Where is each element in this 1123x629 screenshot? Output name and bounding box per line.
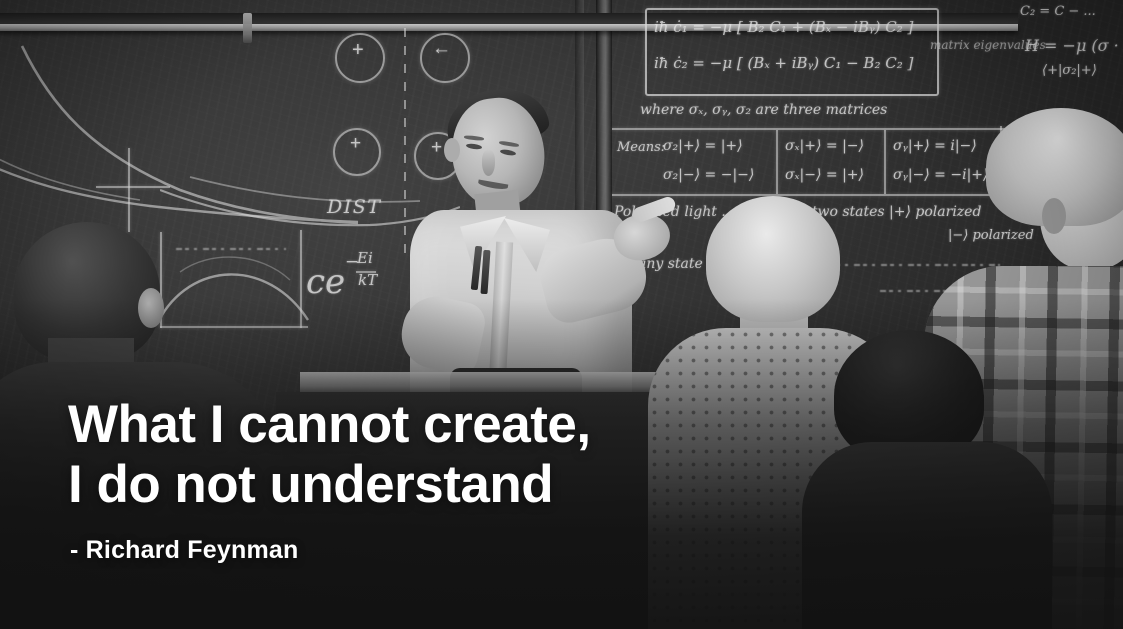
quote-text: What I cannot create, I do not understan… bbox=[68, 395, 591, 514]
quote-line-1: What I cannot create, bbox=[68, 395, 591, 454]
quote-block: What I cannot create, I do not understan… bbox=[68, 395, 591, 565]
quote-attribution: - Richard Feynman bbox=[70, 536, 591, 565]
quote-line-2: I do not understand bbox=[68, 455, 591, 514]
feynman-quote-card: DIST ce − Ei kT + ← + + + iħ ċ₁ = −μ [ B… bbox=[0, 0, 1123, 629]
